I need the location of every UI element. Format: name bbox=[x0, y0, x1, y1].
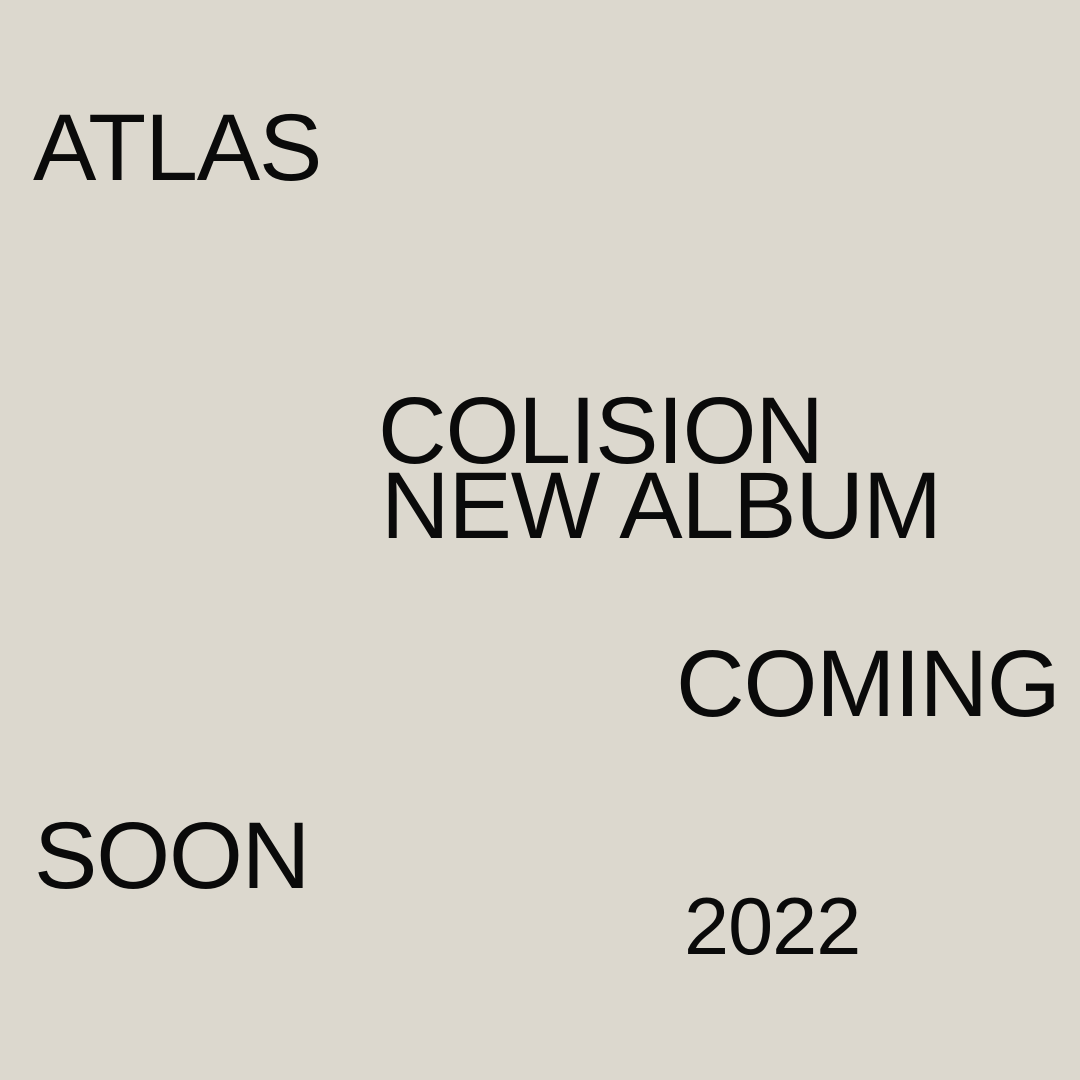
artist-name: ATLAS bbox=[33, 101, 321, 196]
release-teaser-soon: SOON bbox=[34, 809, 309, 904]
poster-canvas: ATLAS COLISION NEW ALBUM COMING SOON 202… bbox=[0, 0, 1080, 1080]
release-year: 2022 bbox=[684, 887, 860, 968]
album-subtitle: NEW ALBUM bbox=[381, 459, 941, 554]
release-teaser-coming: COMING bbox=[676, 637, 1060, 732]
